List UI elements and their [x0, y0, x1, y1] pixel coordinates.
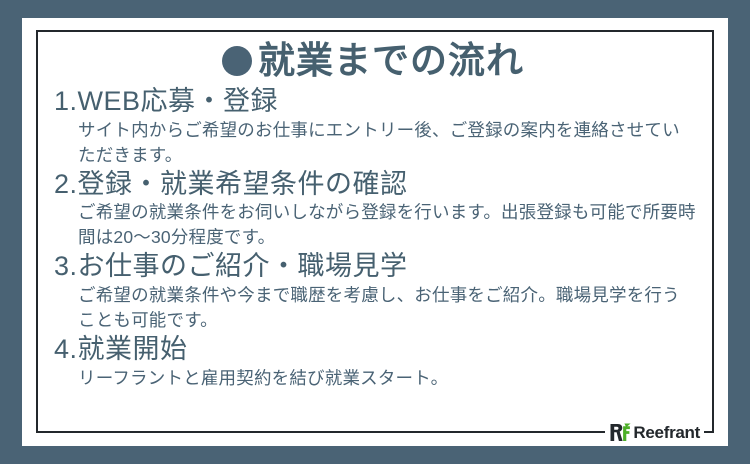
brand-name: Reefrant [633, 424, 700, 441]
step-body: リーフラントと雇用契約を結び就業スタート。 [46, 366, 700, 391]
reefrant-logomark-icon [610, 423, 631, 442]
step-body: ご希望の就業条件や今まで職歴を考慮し、お仕事をご紹介。職場見学を行うことも可能で… [46, 283, 700, 333]
page-title-text: 就業までの流れ [258, 42, 524, 79]
page-title: 就業までの流れ [46, 36, 700, 84]
step-heading: 3.お仕事のご紹介・職場見学 [46, 251, 700, 283]
step-body: ご希望の就業条件をお伺いしながら登録を行います。出張登録も可能で所要時間は20〜… [46, 200, 700, 250]
brand-logo: Reefrant [605, 420, 704, 445]
flow-card: 就業までの流れ 1.WEB応募・登録 サイト内からご希望のお仕事にエントリー後、… [36, 30, 714, 433]
steps-list: 1.WEB応募・登録 サイト内からご希望のお仕事にエントリー後、ご登録の案内を連… [46, 86, 700, 390]
bullet-circle-icon [222, 46, 252, 76]
step-heading: 4.就業開始 [46, 334, 700, 366]
step-body: サイト内からご希望のお仕事にエントリー後、ご登録の案内を連絡させていただきます。 [46, 118, 700, 168]
step-item: 1.WEB応募・登録 サイト内からご希望のお仕事にエントリー後、ご登録の案内を連… [46, 86, 700, 168]
step-item: 4.就業開始 リーフラントと雇用契約を結び就業スタート。 [46, 334, 700, 391]
step-item: 2.登録・就業希望条件の確認 ご希望の就業条件をお伺いしながら登録を行います。出… [46, 169, 700, 251]
step-heading: 1.WEB応募・登録 [46, 86, 700, 118]
step-item: 3.お仕事のご紹介・職場見学 ご希望の就業条件や今まで職歴を考慮し、お仕事をご紹… [46, 251, 700, 333]
step-heading: 2.登録・就業希望条件の確認 [46, 169, 700, 201]
